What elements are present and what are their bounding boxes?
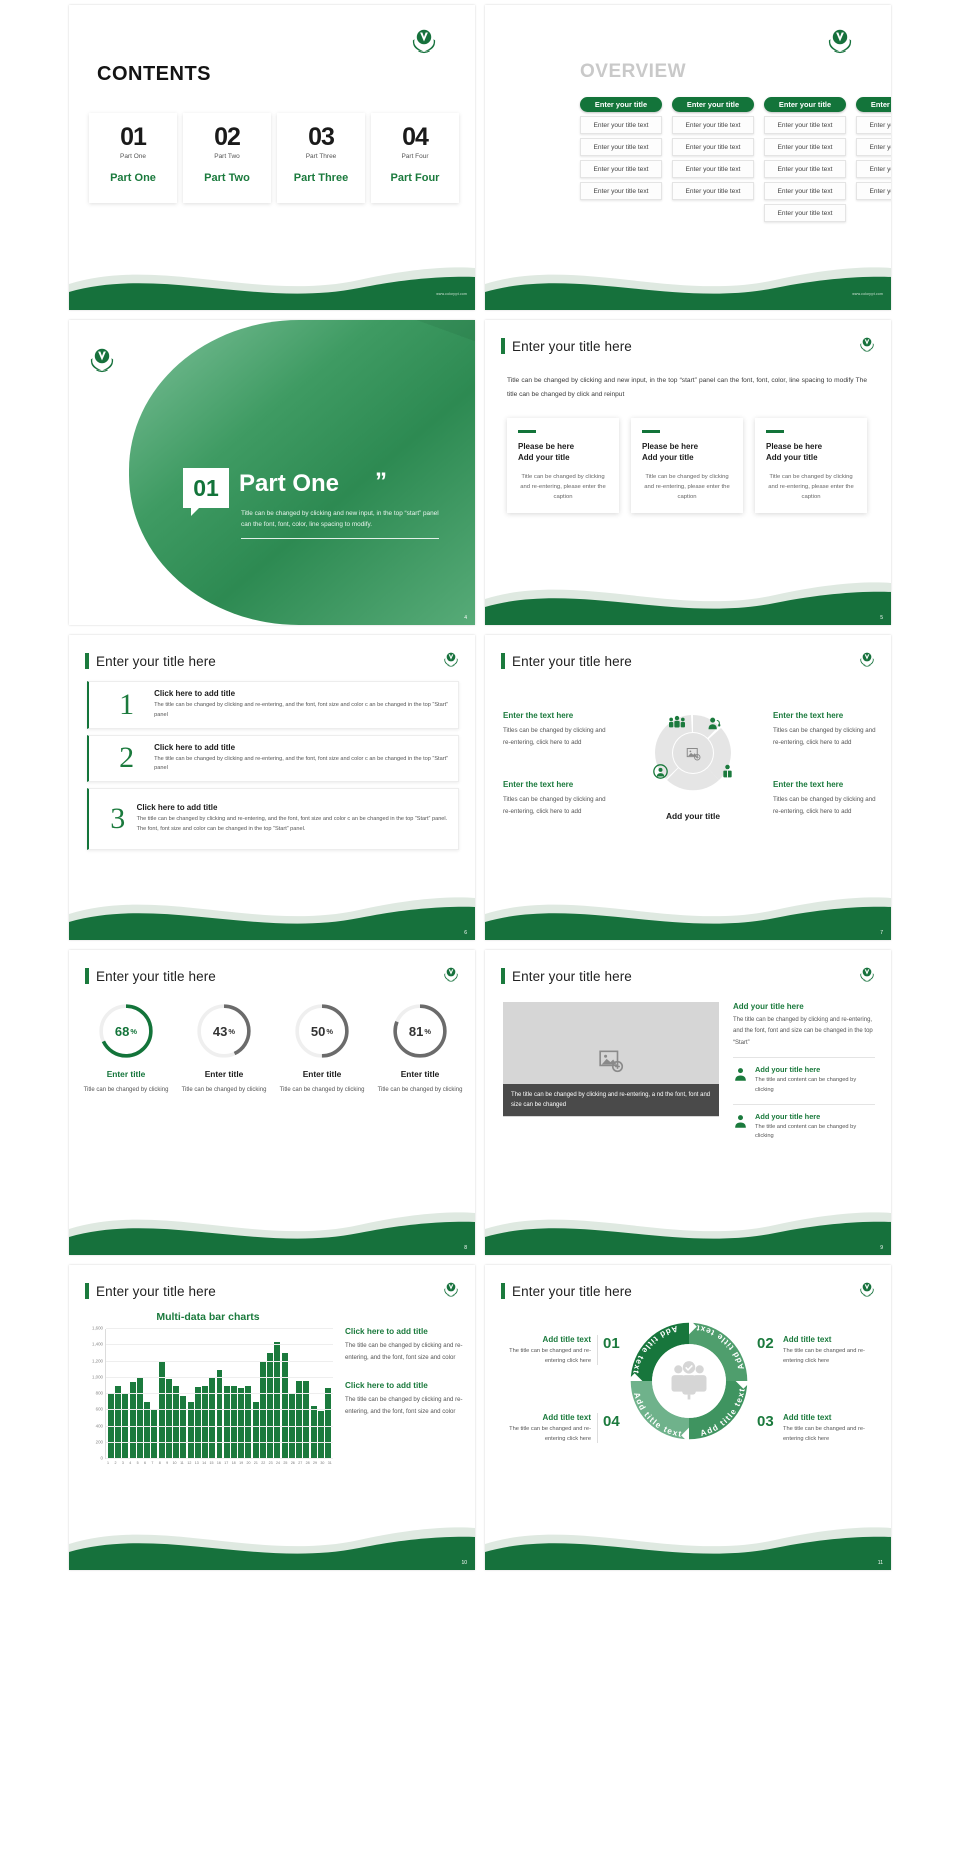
contents-card[interactable]: 01 Part One Part One [89,113,177,203]
page-number: 6 [464,930,467,936]
chart-bar [217,1370,223,1459]
watermark: www.colorppt.com [436,292,467,296]
cycle-ring: Add title text Add title text Add title … [621,1313,757,1449]
card-sublabel: Part Four [371,153,459,160]
label-paragraph: The title can be changed and re-entering… [783,1347,875,1366]
block-heading: Enter the text here [773,778,877,792]
card-description: Title can be changed by clicking and re-… [642,472,732,503]
bar-chart: Multi-data bar charts 02004006008001,000… [83,1311,333,1491]
chart-gridline: 1,000 [106,1377,333,1378]
donut-stat[interactable]: 50% Enter title Title can be changed by … [279,1002,365,1095]
row-number: 2 [99,743,154,773]
cycle-number-04: 04 [603,1413,620,1430]
overview-item[interactable]: Enter your title text [764,138,846,156]
row-description: The title can be changed by clicking and… [154,755,448,775]
chart-bar [144,1402,150,1459]
chart-bars [108,1329,331,1459]
text-block-bottom-right: Enter the text here Titles can be change… [773,778,877,817]
row-description: The title can be changed by clicking and… [154,701,448,721]
card-title: Please be here Add your title [518,441,608,464]
card-number: 04 [371,125,459,150]
page-number: 9 [880,1245,883,1251]
title-accent-bar [85,653,89,669]
card-sublabel: Part Two [183,153,271,160]
page-number: 5 [880,615,883,621]
block-paragraph: Titles can be changed by clicking and re… [773,794,877,816]
donut-stat[interactable]: 43% Enter title Title can be changed by … [181,1002,267,1095]
chart-bar [202,1386,208,1459]
numbered-row-list: 1 Click here to add title The title can … [87,681,459,850]
slide-deck-grid: CONTENTS 01 Part One Part One 02 Part Tw… [0,0,960,1575]
donut-label: Enter title [181,1069,267,1079]
chart-x-tick: 17 [223,1461,229,1465]
donut-unit: % [424,1027,431,1036]
slide-title-text: Enter your title here [96,969,216,984]
donut-number: 68 [115,1024,129,1039]
block-heading: Enter the text here [773,709,877,723]
chart-x-tick: 23 [268,1461,274,1465]
person-icon [733,1114,748,1129]
donut-description: Title can be changed by clicking [377,1085,463,1095]
list-item[interactable]: Add your title here The title and conten… [733,1104,875,1142]
chart-y-tick: 1,000 [92,1374,106,1379]
block-paragraph: The title can be changed by clicking and… [345,1394,463,1417]
row-title: Click here to add title [137,803,448,812]
chart-bar [180,1396,186,1459]
overview-column: Enter your title Enter your title text E… [856,97,891,222]
chart-bar [173,1386,179,1459]
group-people-icon [667,715,687,729]
chart-bar [325,1388,331,1459]
label-heading: Add title text [499,1413,591,1422]
chart-bar [209,1378,215,1459]
slide-title: Enter your title here [85,1283,216,1299]
cycle-label-01[interactable]: Add title text The title can be changed … [499,1335,591,1366]
contents-card[interactable]: 04 Part Four Part Four [371,113,459,203]
chart-x-tick: 14 [201,1461,207,1465]
block-paragraph: The title can be changed by clicking and… [345,1340,463,1363]
info-card[interactable]: Please be here Add your title Title can … [755,418,867,513]
laurel-wreath-logo [857,966,877,984]
chart-gridline: 200 [106,1442,333,1443]
chart-y-tick: 600 [96,1407,106,1412]
card-accent-dash [518,430,536,433]
hub-diagram [653,713,733,793]
text-block-bottom-left: Enter the text here Titles can be change… [503,778,607,817]
chart-x-tick: 9 [164,1461,170,1465]
chart-gridline: 0 [106,1458,333,1459]
text-block-top-right: Enter the text here Titles can be change… [773,709,877,748]
overview-item[interactable]: Enter your title text [764,204,846,222]
item-heading: Add your title here [755,1065,875,1074]
list-item[interactable]: Add your title here The title and conten… [733,1057,875,1095]
chart-x-tick: 30 [319,1461,325,1465]
image-placeholder-icon [598,1047,624,1073]
column-header-pill[interactable]: Enter your title [764,97,846,112]
cycle-number-02: 02 [757,1335,774,1352]
item-heading: Add your title here [755,1112,875,1121]
page-number: 7 [880,930,883,936]
card-label: Part Three [277,172,365,184]
card-number: 03 [277,125,365,150]
donut-stat[interactable]: 81% Enter title Title can be changed by … [377,1002,463,1095]
title-accent-bar [501,653,505,669]
chart-y-tick: 400 [96,1423,106,1428]
card-title: Please be here Add your title [642,441,732,464]
overview-item[interactable]: Enter your title text [672,116,754,134]
chart-x-tick: 25 [282,1461,288,1465]
overview-item[interactable]: Enter your title text [856,160,891,178]
divider [597,1335,598,1365]
donut-description: Title can be changed by clicking [279,1085,365,1095]
chart-x-tick: 21 [253,1461,259,1465]
block-heading: Click here to add title [345,1327,463,1336]
section-number-badge: 01 [183,468,229,508]
laurel-wreath-logo [407,27,441,57]
label-heading: Add title text [783,1335,875,1344]
overview-column: Enter your title Enter your title text E… [580,97,662,222]
chart-x-tick: 28 [305,1461,311,1465]
donut-value: 50% [293,1002,351,1060]
slide-numbered-rows[interactable]: Enter your title here 1 Click here to ad… [69,635,475,940]
card-sublabel: Part Three [277,153,365,160]
slide-donut-stats[interactable]: Enter your title here 68% Enter title Ti… [69,950,475,1255]
row-title: Click here to add title [154,743,448,752]
overview-column: Enter your title Enter your title text E… [672,97,754,222]
item-paragraph: The title and content can be changed by … [755,1076,875,1095]
person-book-icon [720,764,735,779]
chart-y-tick: 1,200 [92,1358,106,1363]
right-heading: Add your title here [733,1002,875,1011]
donut-number: 81 [409,1024,423,1039]
chart-bar [224,1386,230,1459]
chart-bar [253,1402,259,1459]
donut-unit: % [228,1027,235,1036]
slide-cycle-diagram[interactable]: Enter your title here Add title text The… [485,1265,891,1570]
slide-bar-chart[interactable]: Enter your title here Multi-data bar cha… [69,1265,475,1570]
slide-contents[interactable]: CONTENTS 01 Part One Part One 02 Part Tw… [69,5,475,310]
chart-x-tick: 29 [312,1461,318,1465]
person-icon [733,1067,748,1082]
chart-x-tick: 3 [120,1461,126,1465]
wave-decoration [69,1195,475,1255]
donut-stat[interactable]: 68% Enter title Title can be changed by … [83,1002,169,1095]
chart-gridline: 1,600 [106,1328,333,1329]
column-header-pill[interactable]: Enter your title [672,97,754,112]
donut-label: Enter title [279,1069,365,1079]
person-shield-icon [653,764,668,779]
chart-x-tick: 10 [172,1461,178,1465]
title-accent-bar [501,338,505,354]
chart-x-tick: 19 [238,1461,244,1465]
card-description: Title can be changed by clicking and re-… [518,472,608,503]
column-header-pill[interactable]: Enter your title [856,97,891,112]
card-accent-dash [642,430,660,433]
numbered-row[interactable]: 1 Click here to add title The title can … [87,681,459,729]
slide-title-text: Enter your title here [512,1284,632,1299]
slide-overview[interactable]: OVERVIEW Enter your title Enter your tit… [485,5,891,310]
contents-card-list: 01 Part One Part One 02 Part Two Part Tw… [89,113,459,203]
laurel-wreath-logo [857,1281,877,1299]
title-accent-bar [85,1283,89,1299]
chart-y-tick: 800 [96,1391,106,1396]
slide-section-part-one[interactable]: 01 Part One ” Title can be changed by cl… [69,320,475,625]
wave-decoration [69,880,475,940]
chart-bar [245,1386,251,1459]
overview-item[interactable]: Enter your title text [672,138,754,156]
slide-title: Enter your title here [85,968,216,984]
chart-title: Multi-data bar charts [83,1311,333,1323]
label-paragraph: The title can be changed and re-entering… [499,1347,591,1366]
overview-item[interactable]: Enter your title text [672,160,754,178]
row-description: The title can be changed by clicking and… [137,815,448,835]
label-paragraph: The title can be changed and re-entering… [499,1425,591,1444]
watermark: www.colorppt.com [852,292,883,296]
slide-title-text: Enter your title here [512,969,632,984]
block-paragraph: Titles can be changed by clicking and re… [773,725,877,747]
chart-x-tick: 6 [142,1461,148,1465]
right-paragraph: The title can be changed by clicking and… [733,1015,875,1049]
wave-decoration [485,1510,891,1570]
text-block-top-left: Enter the text here Titles can be change… [503,709,607,748]
donut-unit: % [326,1027,333,1036]
chart-bar [231,1386,237,1459]
section-number: 01 [193,475,219,502]
slide-title-text: Enter your title here [96,654,216,669]
numbered-row[interactable]: 2 Click here to add title The title can … [87,735,459,783]
wave-decoration [69,250,475,310]
right-text-blocks: Click here to add title The title can be… [345,1327,463,1417]
chart-gridline: 400 [106,1426,333,1427]
right-content-column: Add your title here The title can be cha… [733,1002,875,1142]
image-caption: The title can be changed by clicking and… [503,1084,719,1116]
cycle-number-03: 03 [757,1413,774,1430]
divider [597,1413,598,1443]
overview-item[interactable]: Enter your title text [764,160,846,178]
slide-title-text: Enter your title here [512,339,632,354]
overview-item[interactable]: Enter your title text [856,138,891,156]
chart-x-tick: 26 [290,1461,296,1465]
slide-three-cards[interactable]: Enter your title here Title can be chang… [485,320,891,625]
block-heading: Enter the text here [503,709,607,723]
overview-item[interactable]: Enter your title text [764,182,846,200]
section-body-text: Title can be changed by clicking and new… [241,508,441,530]
chart-y-tick: 1,600 [92,1326,106,1331]
chart-x-tick: 11 [179,1461,185,1465]
wave-decoration [69,1510,475,1570]
chart-x-axis-labels: 1234567891011121314151617181920212223242… [105,1461,333,1465]
chart-x-tick: 7 [149,1461,155,1465]
laurel-wreath-logo [857,336,877,354]
chart-bar [282,1353,288,1459]
donut-description: Title can be changed by clicking [181,1085,267,1095]
donut-label: Enter title [377,1069,463,1079]
page-number: 10 [461,1560,467,1566]
page-number: 11 [878,1560,883,1566]
card-label: Part Four [371,172,459,184]
slide-title: Enter your title here [501,968,632,984]
block-heading: Enter the text here [503,778,607,792]
chart-x-tick: 2 [112,1461,118,1465]
chart-x-tick: 22 [260,1461,266,1465]
chart-x-tick: 16 [216,1461,222,1465]
quote-mark-icon: ” [375,468,387,496]
chart-gridline: 800 [106,1393,333,1394]
hub-caption: Add your title [635,811,751,821]
card-list: Please be here Add your title Title can … [507,418,867,513]
cycle-label-04[interactable]: Add title text The title can be changed … [499,1413,591,1444]
row-title: Click here to add title [154,689,448,698]
chart-x-tick: 4 [127,1461,133,1465]
image-placeholder-icon [686,746,701,761]
chart-x-tick: 27 [297,1461,303,1465]
overview-item[interactable]: Enter your title text [856,182,891,200]
column-header-pill[interactable]: Enter your title [580,97,662,112]
slide-title: Enter your title here [501,338,632,354]
chart-x-tick: 20 [245,1461,251,1465]
chart-bar [166,1379,172,1459]
center-image-placeholder[interactable] [673,733,713,773]
laurel-wreath-logo [441,651,461,669]
overview-columns: Enter your title Enter your title text E… [580,97,891,222]
chart-y-tick: 0 [101,1456,106,1461]
block-paragraph: Titles can be changed by clicking and re… [503,725,607,747]
laurel-wreath-logo [823,27,857,57]
card-accent-dash [766,430,784,433]
divider-rule [241,538,439,539]
slide-title-text: Enter your title here [96,1284,216,1299]
overview-item[interactable]: Enter your title text [856,116,891,134]
overview-item[interactable]: Enter your title text [580,116,662,134]
slide-image-and-list[interactable]: Enter your title here The title can be c… [485,950,891,1255]
chart-bar [151,1410,157,1459]
slide-title: Enter your title here [501,1283,632,1299]
slide-circular-icons[interactable]: Enter your title here Enter the text her… [485,635,891,940]
overview-column: Enter your title Enter your title text E… [764,97,846,222]
chart-gridline: 1,200 [106,1361,333,1362]
chart-x-tick: 18 [231,1461,237,1465]
wave-decoration [485,1195,891,1255]
chart-x-tick: 24 [275,1461,281,1465]
chart-y-tick: 1,400 [92,1342,106,1347]
chart-bar [311,1406,317,1459]
contents-card[interactable]: 03 Part Three Part Three [277,113,365,203]
chart-gridline: 1,400 [106,1344,333,1345]
wave-decoration [485,880,891,940]
card-label: Part Two [183,172,271,184]
card-number: 01 [89,125,177,150]
lead-paragraph: Title can be changed by clicking and new… [507,374,867,401]
donut-number: 43 [213,1024,227,1039]
card-sublabel: Part One [89,153,177,160]
card-label: Part One [89,172,177,184]
chart-gridline: 600 [106,1409,333,1410]
label-heading: Add title text [783,1413,875,1422]
overview-item[interactable]: Enter your title text [580,160,662,178]
chart-bar [115,1386,121,1459]
title-accent-bar [501,1283,505,1299]
numbered-row[interactable]: 3 Click here to add title The title can … [87,788,459,850]
chart-y-tick: 200 [96,1439,106,1444]
chart-bar [238,1388,244,1460]
wave-decoration [485,565,891,625]
donut-value: 81% [391,1002,449,1060]
overview-item[interactable]: Enter your title text [672,182,754,200]
page-number: 4 [464,615,467,621]
chart-x-tick: 15 [208,1461,214,1465]
page-number: 8 [464,1245,467,1251]
chart-bar [318,1411,324,1459]
laurel-wreath-logo [441,1281,461,1299]
label-paragraph: The title can be changed and re-entering… [783,1425,875,1444]
donut-value: 43% [195,1002,253,1060]
contents-card[interactable]: 02 Part Two Part Two [183,113,271,203]
section-title: Part One [239,470,339,498]
chart-bar [137,1377,143,1459]
chart-x-tick: 12 [186,1461,192,1465]
laurel-wreath-logo [857,651,877,669]
title-accent-bar [501,968,505,984]
chart-bar [108,1394,114,1459]
row-number: 3 [99,804,137,834]
block-heading: Click here to add title [345,1381,463,1390]
chart-x-tick: 1 [105,1461,111,1465]
label-heading: Add title text [499,1335,591,1344]
chart-x-tick: 13 [194,1461,200,1465]
laurel-wreath-logo [441,966,461,984]
item-paragraph: The title and content can be changed by … [755,1123,875,1142]
card-description: Title can be changed by clicking and re-… [766,472,856,503]
slide-title: Enter your title here [85,653,216,669]
chart-x-tick: 5 [135,1461,141,1465]
donut-unit: % [130,1027,137,1036]
cycle-label-03[interactable]: Add title text The title can be changed … [783,1413,875,1444]
chart-x-tick: 8 [157,1461,163,1465]
donut-label: Enter title [83,1069,169,1079]
chart-bar [188,1402,194,1459]
overview-item[interactable]: Enter your title text [764,116,846,134]
block-paragraph: Titles can be changed by clicking and re… [503,794,607,816]
slide-title-text: Enter your title here [512,654,632,669]
chart-bar [267,1353,273,1459]
laurel-wreath-logo [85,346,119,376]
overview-item[interactable]: Enter your title text [580,138,662,156]
chart-plot-area: 02004006008001,0001,2001,4001,600 [105,1329,333,1459]
wave-decoration [485,250,891,310]
page-title: CONTENTS [97,63,211,86]
page-title: OVERVIEW [580,61,686,83]
info-card[interactable]: Please be here Add your title Title can … [631,418,743,513]
cycle-label-02[interactable]: Add title text The title can be changed … [783,1335,875,1366]
chart-x-tick: 31 [327,1461,333,1465]
row-number: 1 [99,690,154,720]
slide-title: Enter your title here [501,653,632,669]
headset-person-icon [706,716,721,730]
donut-number: 50 [311,1024,325,1039]
overview-item[interactable]: Enter your title text [580,182,662,200]
donut-description: Title can be changed by clicking [83,1085,169,1095]
card-title: Please be here Add your title [766,441,856,464]
chart-bar [195,1387,201,1459]
card-number: 02 [183,125,271,150]
cycle-arrows: Add title text Add title text Add title … [621,1313,757,1449]
donut-value: 68% [97,1002,155,1060]
cycle-number-01: 01 [603,1335,620,1352]
title-accent-bar [85,968,89,984]
donut-chart-list: 68% Enter title Title can be changed by … [83,1002,463,1095]
info-card[interactable]: Please be here Add your title Title can … [507,418,619,513]
